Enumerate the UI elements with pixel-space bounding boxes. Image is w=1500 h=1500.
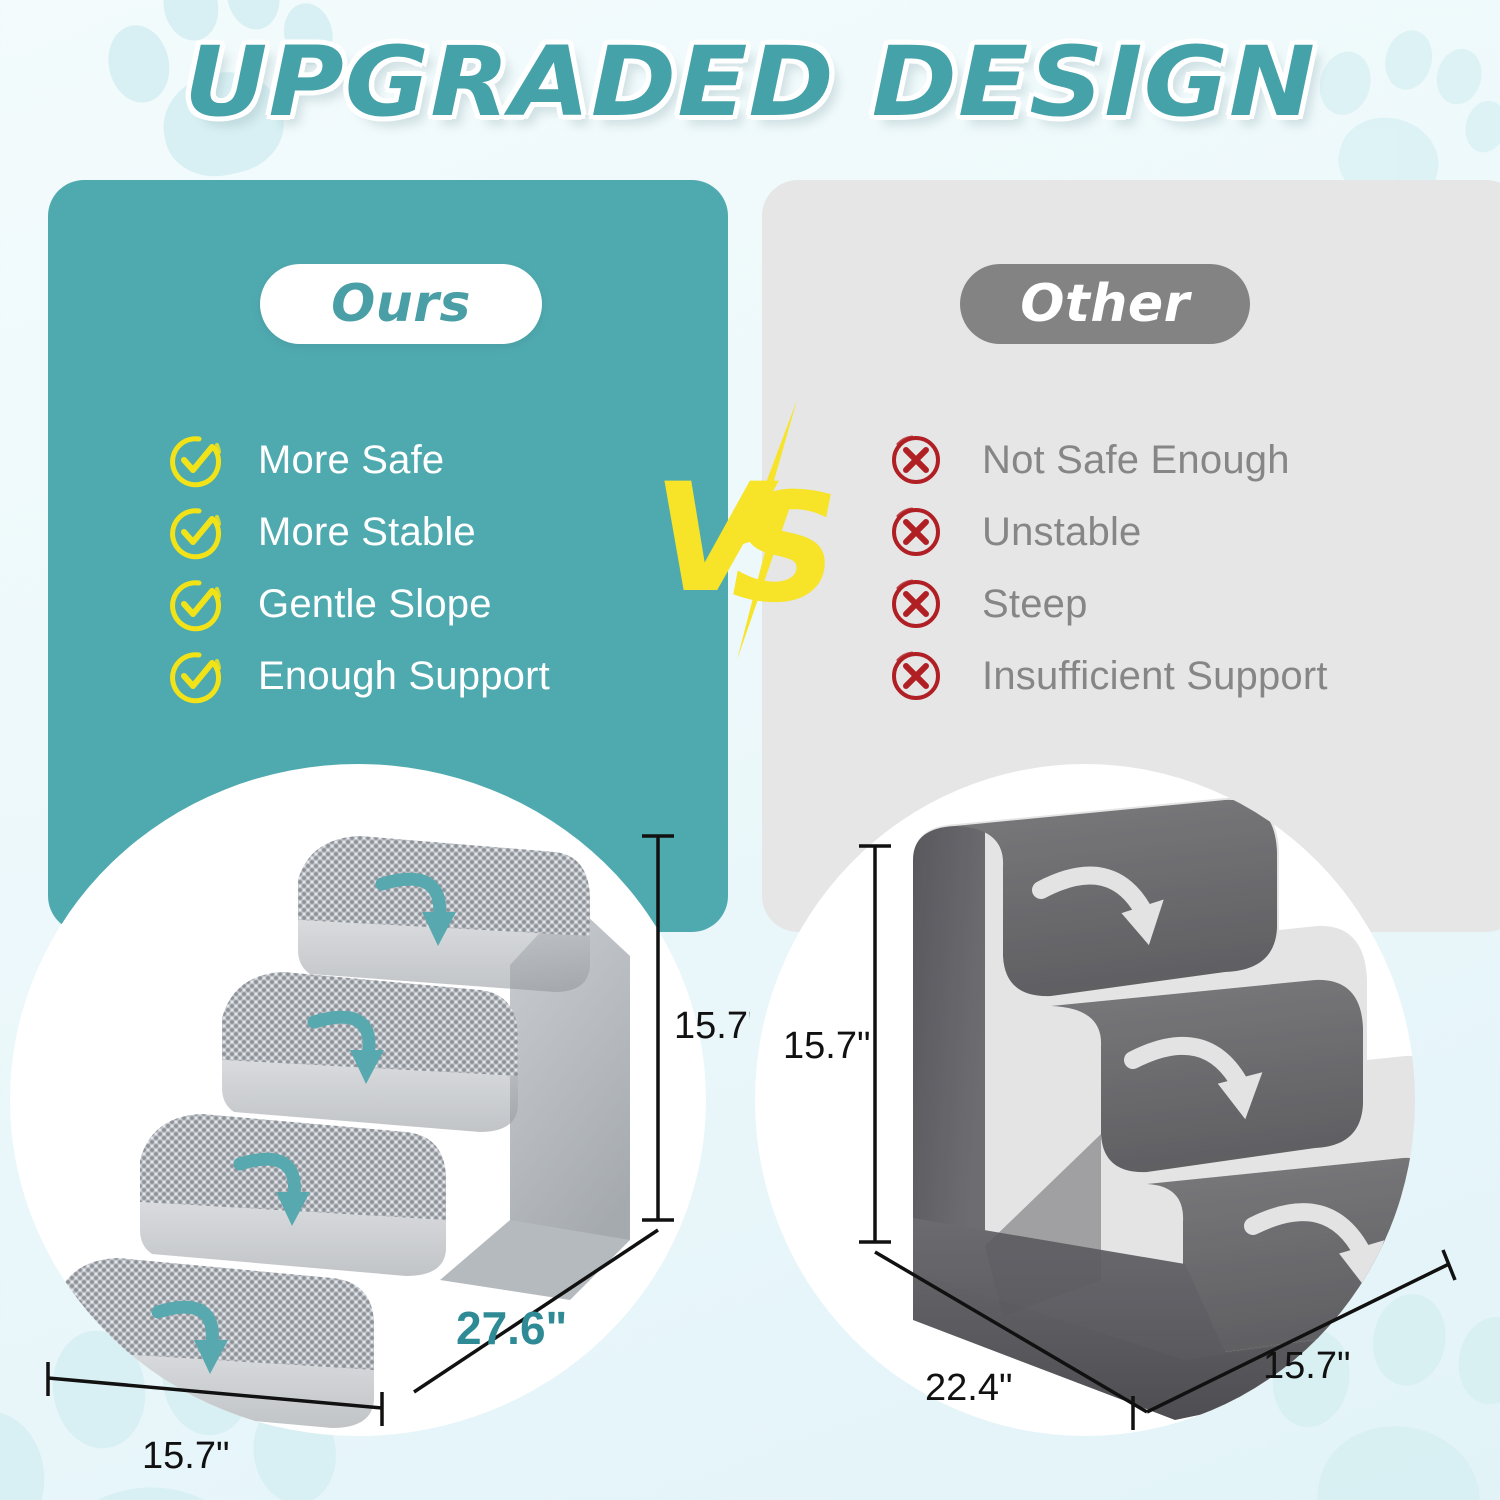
- ours-feature-list: More Safe More Stable Gentle Slope: [168, 424, 550, 712]
- list-item: Steep: [888, 568, 1328, 640]
- versus-icon: V S: [645, 400, 865, 660]
- ours-feature-label: Gentle Slope: [258, 582, 492, 627]
- ours-depth-label: 27.6": [456, 1302, 567, 1354]
- list-item: More Safe: [168, 424, 550, 496]
- other-feature-label: Not Safe Enough: [982, 438, 1290, 483]
- other-feature-label: Insufficient Support: [982, 654, 1328, 699]
- ours-product-scene: 15.7" 27.6" 15.7": [10, 760, 750, 1500]
- cross-circle-icon: [888, 432, 944, 488]
- check-circle-icon: [168, 648, 224, 704]
- other-width-label: 15.7": [1263, 1345, 1350, 1387]
- check-circle-icon: [168, 576, 224, 632]
- cross-circle-icon: [888, 504, 944, 560]
- ours-feature-label: More Safe: [258, 438, 444, 483]
- versus-letter-s: S: [731, 462, 839, 636]
- cross-circle-icon: [888, 576, 944, 632]
- other-product-scene: 15.7" 22.4" 15.7": [755, 760, 1500, 1500]
- versus-badge: V S: [645, 400, 865, 660]
- ours-height-label: 15.7": [674, 1005, 750, 1047]
- other-depth-label: 22.4": [925, 1367, 1012, 1409]
- list-item: More Stable: [168, 496, 550, 568]
- check-circle-icon: [168, 432, 224, 488]
- list-item: Enough Support: [168, 640, 550, 712]
- other-product-illustration: [913, 798, 1455, 1420]
- cross-circle-icon: [888, 648, 944, 704]
- list-item: Gentle Slope: [168, 568, 550, 640]
- list-item: Unstable: [888, 496, 1328, 568]
- other-feature-list: Not Safe Enough Unstable Steep: [888, 424, 1328, 712]
- ours-feature-label: Enough Support: [258, 654, 550, 699]
- list-item: Not Safe Enough: [888, 424, 1328, 496]
- ours-pill: Ours: [260, 264, 542, 344]
- ours-feature-label: More Stable: [258, 510, 476, 555]
- other-feature-label: Steep: [982, 582, 1088, 627]
- ours-pill-label: Ours: [331, 274, 471, 334]
- check-circle-icon: [168, 504, 224, 560]
- page-title-container: UPGRADED DESIGN: [0, 26, 1500, 138]
- other-feature-label: Unstable: [982, 510, 1141, 555]
- other-pill: Other: [960, 264, 1250, 344]
- page-title: UPGRADED DESIGN: [184, 26, 1316, 138]
- ours-width-label: 15.7": [142, 1435, 229, 1477]
- other-pill-label: Other: [1020, 274, 1190, 334]
- list-item: Insufficient Support: [888, 640, 1328, 712]
- other-height-label: 15.7": [783, 1025, 870, 1067]
